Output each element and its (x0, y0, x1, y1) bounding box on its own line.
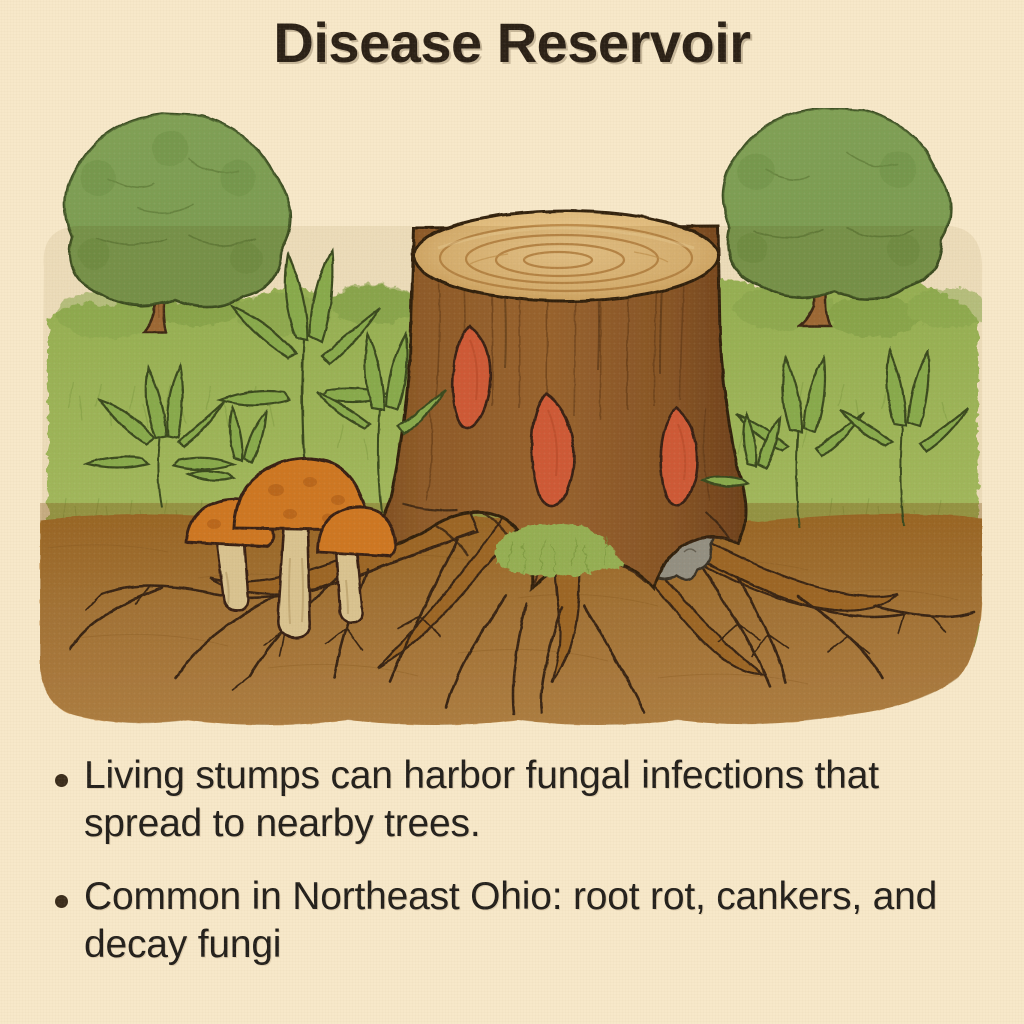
page-title: Disease Reservoir (0, 10, 1024, 75)
bullet-text: Living stumps can harbor fungal infectio… (84, 752, 975, 847)
list-item: Common in Northeast Ohio: root rot, cank… (55, 873, 975, 968)
bullet-point-icon (55, 895, 68, 908)
bullet-text: Common in Northeast Ohio: root rot, cank… (84, 873, 975, 968)
list-item: Living stumps can harbor fungal infectio… (55, 752, 975, 847)
bullet-list: Living stumps can harbor fungal infectio… (55, 752, 975, 994)
bullet-point-icon (55, 774, 68, 787)
stump-illustration (38, 108, 986, 728)
